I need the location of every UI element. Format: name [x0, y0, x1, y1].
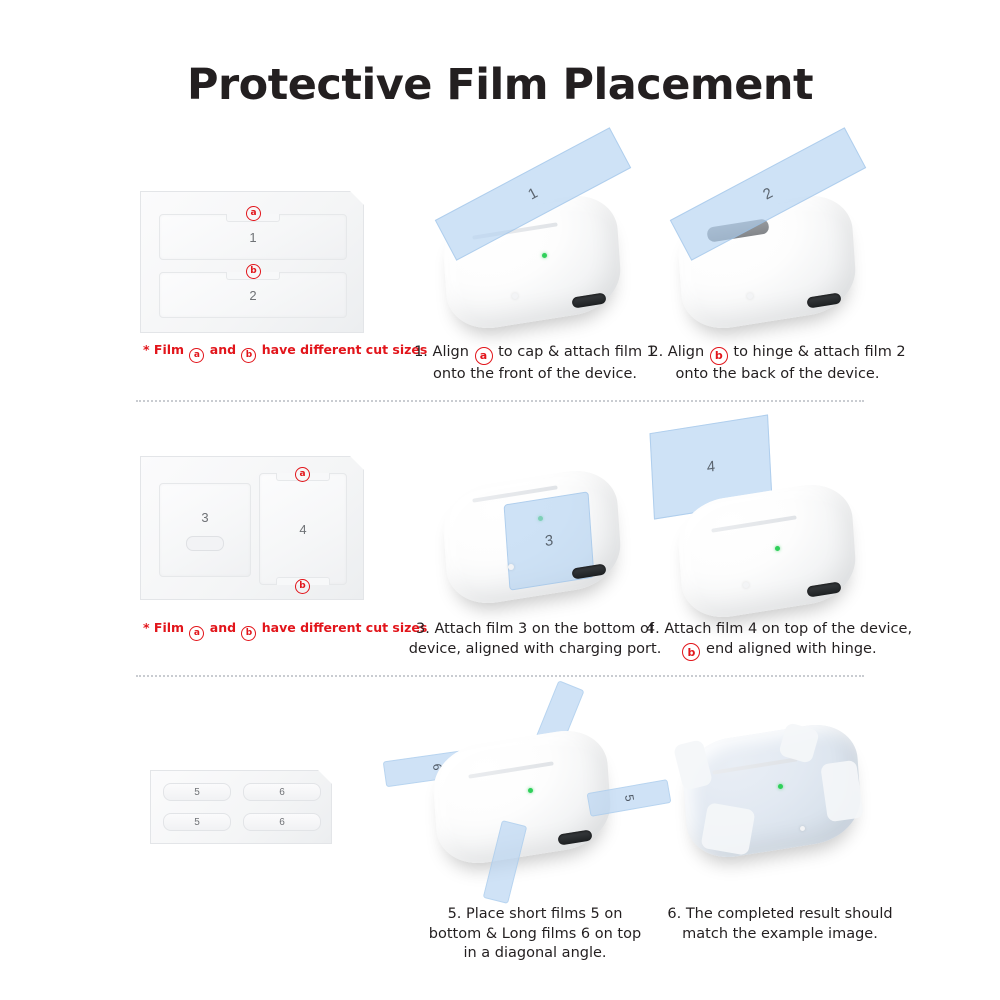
note-film-word-1: Film: [154, 342, 184, 357]
caption-step-6-line-1: 6. The completed result should: [645, 905, 915, 925]
caption-step-4: 4. Attach film 4 on top of the device, b…: [645, 620, 913, 661]
caption-1-pre: 1. Align: [414, 344, 469, 360]
film-overlay-label-3: 3: [544, 532, 553, 550]
caption-2-pre: 2. Align: [649, 344, 704, 360]
device-step-1: 1: [420, 165, 650, 355]
airpods-case-5: [431, 724, 613, 870]
film-sheet-3: 5 6 5 6: [150, 770, 332, 844]
caption-step-3-line-1: 3. Attach film 3 on the bottom of: [400, 620, 670, 640]
device-step-2: 2: [655, 165, 885, 355]
film-sheet-2: 3 4 a b: [140, 456, 364, 600]
caption-2-post: to hinge & attach film 2: [733, 344, 905, 360]
badge-b-sheet2: b: [295, 579, 310, 594]
strip-film-6-a: 6: [243, 783, 321, 801]
badge-a-sheet2: a: [295, 467, 310, 482]
caption-step-1: 1. Align a to cap & attach film 1 onto t…: [405, 343, 665, 384]
led-indicator-6: [778, 784, 783, 789]
badge-b-sheet1: b: [246, 264, 261, 279]
film-4: 4: [259, 473, 347, 585]
page-title: Protective Film Placement: [0, 60, 1000, 110]
note-asterisk-1: *: [143, 342, 150, 357]
film-overlay-label-1: 1: [525, 185, 540, 204]
instruction-sheet: Protective Film Placement 1 a 2 b * Film…: [0, 0, 1000, 1000]
film-sheet-1: 1 a 2 b: [140, 191, 364, 333]
led-indicator-1: [542, 253, 547, 258]
strip-6a-label: 6: [279, 787, 285, 798]
film-2-label: 2: [249, 288, 256, 303]
caption-4-badge-b: b: [682, 643, 700, 661]
caption-4-post: end aligned with hinge.: [706, 641, 877, 657]
device-step-5: 6 5: [410, 690, 640, 900]
caption-1-post: to cap & attach film 1: [498, 344, 656, 360]
caption-step-2-line-2: onto the back of the device.: [645, 365, 910, 385]
strip-6b-label: 6: [279, 817, 285, 828]
note-asterisk-2: *: [143, 620, 150, 635]
caption-step-2-line-1: 2. Align b to hinge & attach film 2: [645, 343, 910, 365]
led-indicator-5: [528, 788, 533, 793]
note-badge-a-1: a: [189, 348, 204, 363]
strip-5a-label: 5: [194, 787, 200, 798]
film-3: 3: [159, 483, 251, 577]
strip-5b-label: 5: [194, 817, 200, 828]
section-divider-2: [136, 675, 864, 677]
case-highlight-4: [743, 582, 749, 588]
note-tail-1: have different cut sizes: [262, 342, 428, 357]
caption-1-badge-a: a: [475, 347, 493, 365]
case-highlight-1: [512, 293, 518, 299]
strip-film-5-b: 5: [163, 813, 231, 831]
film-overlay-label-2: 2: [760, 185, 775, 204]
cut-size-note-1: * Film a and b have different cut sizes: [143, 342, 427, 363]
row-1: 1 a 2 b * Film a and b have different cu…: [0, 165, 1000, 395]
caption-step-3-line-2: device, aligned with charging port.: [400, 640, 670, 660]
caption-step-6: 6. The completed result should match the…: [645, 905, 915, 944]
note-and-word-2: and: [210, 620, 236, 635]
led-indicator-4: [775, 546, 780, 551]
cut-size-note-2: * Film a and b have different cut sizes: [143, 620, 427, 641]
strip-film-5-a: 5: [163, 783, 231, 801]
note-badge-b-2: b: [241, 626, 256, 641]
device-step-6: [660, 690, 890, 900]
strip-film-6-b: 6: [243, 813, 321, 831]
badge-a-sheet1: a: [246, 206, 261, 221]
wrap-band-bottom-left: [700, 802, 755, 856]
case-highlight-2: [747, 293, 753, 299]
caption-step-6-line-2: match the example image.: [645, 925, 915, 945]
case-highlight-3: [508, 564, 514, 570]
caption-step-5-line-2: bottom & Long films 6 on top: [400, 925, 670, 945]
film-3-label: 3: [201, 510, 208, 525]
film-1-label: 1: [249, 230, 256, 245]
note-badge-a-2: a: [189, 626, 204, 641]
note-and-word-1: and: [210, 342, 236, 357]
note-film-word-2: Film: [154, 620, 184, 635]
film-3-port-slot: [186, 536, 224, 551]
device-step-4: 4 b: [655, 440, 885, 630]
row-3: 5 6 5 6 6 5: [0, 690, 1000, 970]
caption-step-4-line-1: 4. Attach film 4 on top of the device,: [645, 620, 913, 640]
caption-step-1-line-1: 1. Align a to cap & attach film 1: [405, 343, 665, 365]
caption-step-3: 3. Attach film 3 on the bottom of device…: [400, 620, 670, 659]
caption-2-badge-b: b: [710, 347, 728, 365]
caption-step-2: 2. Align b to hinge & attach film 2 onto…: [645, 343, 910, 384]
row-2: 3 4 a b * Film a and b have different cu…: [0, 440, 1000, 670]
case-highlight-6: [800, 826, 805, 831]
device-step-3: 3: [420, 440, 650, 630]
section-divider-1: [136, 400, 864, 402]
film-4-label: 4: [299, 522, 306, 537]
caption-step-4-line-2: b end aligned with hinge.: [645, 640, 913, 662]
caption-step-1-line-2: onto the front of the device.: [405, 365, 665, 385]
strip-overlay-5-label: 5: [622, 793, 637, 802]
caption-step-5: 5. Place short films 5 on bottom & Long …: [400, 905, 670, 964]
caption-step-5-line-1: 5. Place short films 5 on: [400, 905, 670, 925]
film-overlay-label-4: 4: [706, 458, 715, 476]
caption-step-5-line-3: in a diagonal angle.: [400, 944, 670, 964]
note-badge-b-1: b: [241, 348, 256, 363]
